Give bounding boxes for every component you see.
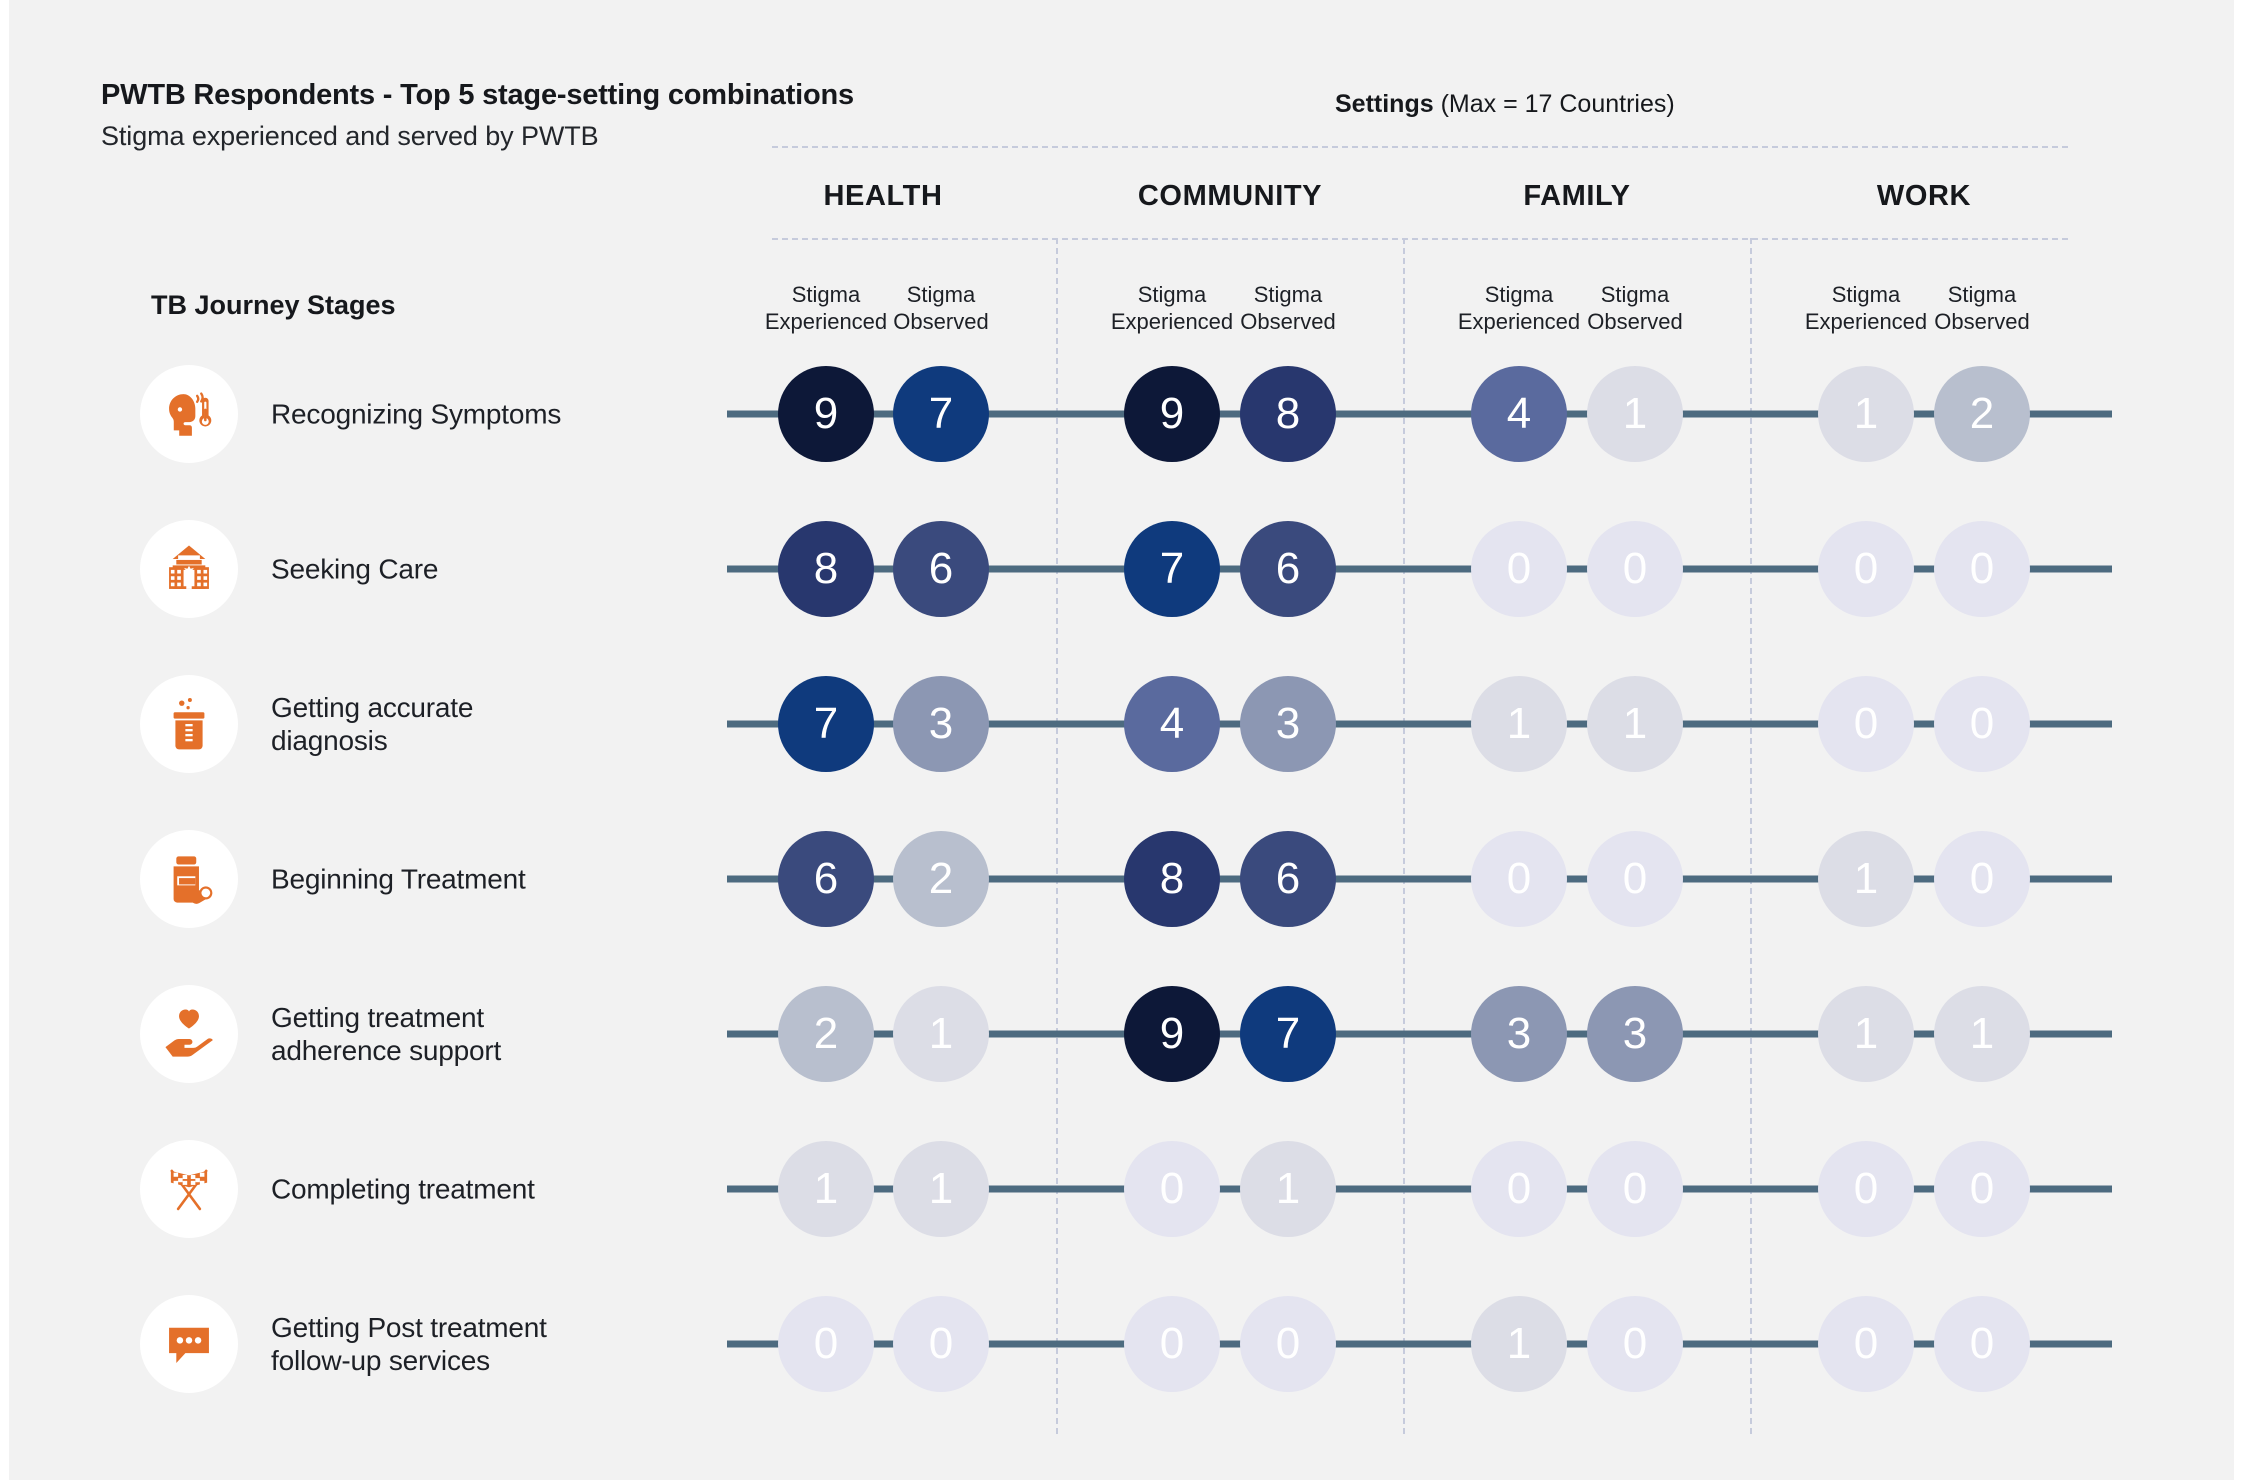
page-subtitle: Stigma experienced and served by PWTB <box>101 119 854 154</box>
value-bubble[interactable]: 1 <box>1471 676 1567 772</box>
value-bubble[interactable]: 0 <box>1240 1296 1336 1392</box>
stage-label: Recognizing Symptoms <box>271 397 571 430</box>
value-bubble[interactable]: 0 <box>1934 676 2030 772</box>
stage-label: Getting Post treatment follow-up service… <box>271 1311 571 1377</box>
hospital-icon <box>140 520 238 618</box>
value-bubble[interactable]: 1 <box>1818 831 1914 927</box>
table-row: Getting Post treatment follow-up service… <box>9 1282 2243 1406</box>
sub-header-stigma-observed-1: StigmaObserved <box>846 282 1036 336</box>
value-bubble[interactable]: 0 <box>1587 1141 1683 1237</box>
value-bubble[interactable]: 1 <box>1240 1141 1336 1237</box>
stage-label: Beginning Treatment <box>271 862 571 895</box>
sub-header-line1: Stigma <box>1193 282 1383 309</box>
value-bubble[interactable]: 6 <box>1240 521 1336 617</box>
group-header-family: FAMILY <box>1397 180 1757 213</box>
value-bubble[interactable]: 7 <box>893 366 989 462</box>
value-bubble[interactable]: 8 <box>778 521 874 617</box>
value-bubble[interactable]: 2 <box>893 831 989 927</box>
value-bubble[interactable]: 0 <box>1587 521 1683 617</box>
value-bubble[interactable]: 6 <box>778 831 874 927</box>
value-bubble[interactable]: 0 <box>1934 1141 2030 1237</box>
table-row: Completing treatment11010000 <box>9 1127 2243 1251</box>
table-row: Beginning Treatment62860010 <box>9 817 2243 941</box>
sub-header-line1: Stigma <box>846 282 1036 309</box>
value-bubble[interactable]: 4 <box>1124 676 1220 772</box>
lab-beaker-icon <box>140 675 238 773</box>
title-block: PWTB Respondents - Top 5 stage-setting c… <box>101 78 854 154</box>
value-bubble[interactable]: 0 <box>1471 1141 1567 1237</box>
stage-label: Getting accurate diagnosis <box>271 691 571 757</box>
value-bubble[interactable]: 3 <box>893 676 989 772</box>
stage-label: Completing treatment <box>271 1172 571 1205</box>
stages-heading: TB Journey Stages <box>151 290 396 321</box>
speech-bubble-icon <box>140 1295 238 1393</box>
value-bubble[interactable]: 0 <box>1471 831 1567 927</box>
value-bubble[interactable]: 1 <box>778 1141 874 1237</box>
value-bubble[interactable]: 0 <box>1934 831 2030 927</box>
value-bubble[interactable]: 6 <box>893 521 989 617</box>
table-row: Seeking Care86760000 <box>9 507 2243 631</box>
value-bubble[interactable]: 0 <box>778 1296 874 1392</box>
value-bubble[interactable]: 4 <box>1471 366 1567 462</box>
group-header-work: WORK <box>1744 180 2104 213</box>
sub-header-line2: Observed <box>1887 309 2077 336</box>
value-bubble[interactable]: 0 <box>1818 521 1914 617</box>
sub-header-stigma-observed-3: StigmaObserved <box>1193 282 1383 336</box>
value-bubble[interactable]: 0 <box>1934 521 2030 617</box>
table-row: Getting accurate diagnosis73431100 <box>9 662 2243 786</box>
value-bubble[interactable]: 8 <box>1124 831 1220 927</box>
value-bubble[interactable]: 0 <box>1818 1141 1914 1237</box>
value-bubble[interactable]: 0 <box>1587 1296 1683 1392</box>
infographic-canvas: PWTB Respondents - Top 5 stage-setting c… <box>0 0 2243 1480</box>
value-bubble[interactable]: 1 <box>1818 986 1914 1082</box>
value-bubble[interactable]: 2 <box>1934 366 2030 462</box>
sub-header-stigma-observed-5: StigmaObserved <box>1540 282 1730 336</box>
header-rule-top <box>772 146 2068 148</box>
value-bubble[interactable]: 7 <box>1124 521 1220 617</box>
heart-in-hand-icon <box>140 985 238 1083</box>
value-bubble[interactable]: 0 <box>1818 1296 1914 1392</box>
header-rule-bottom <box>772 238 2068 240</box>
value-bubble[interactable]: 7 <box>778 676 874 772</box>
value-bubble[interactable]: 9 <box>1124 366 1220 462</box>
sub-header-line1: Stigma <box>1540 282 1730 309</box>
sub-header-line2: Observed <box>1193 309 1383 336</box>
sub-header-line2: Observed <box>1540 309 1730 336</box>
value-bubble[interactable]: 1 <box>1587 676 1683 772</box>
value-bubble[interactable]: 1 <box>1934 986 2030 1082</box>
value-bubble[interactable]: 3 <box>1587 986 1683 1082</box>
value-bubble[interactable]: 0 <box>1124 1296 1220 1392</box>
head-fever-icon <box>140 365 238 463</box>
value-bubble[interactable]: 0 <box>1587 831 1683 927</box>
value-bubble[interactable]: 6 <box>1240 831 1336 927</box>
table-row: Recognizing Symptoms97984112 <box>9 352 2243 476</box>
value-bubble[interactable]: 1 <box>893 1141 989 1237</box>
settings-caption: Settings (Max = 17 Countries) <box>1335 90 1675 119</box>
value-bubble[interactable]: 1 <box>1587 366 1683 462</box>
settings-label: Settings <box>1335 90 1434 118</box>
stage-label: Getting treatment adherence support <box>271 1001 571 1067</box>
value-bubble[interactable]: 8 <box>1240 366 1336 462</box>
value-bubble[interactable]: 0 <box>1471 521 1567 617</box>
value-bubble[interactable]: 9 <box>1124 986 1220 1082</box>
table-row: Getting treatment adherence support21973… <box>9 972 2243 1096</box>
value-bubble[interactable]: 0 <box>893 1296 989 1392</box>
group-header-health: HEALTH <box>703 180 1063 213</box>
value-bubble[interactable]: 1 <box>1818 366 1914 462</box>
group-header-community: COMMUNITY <box>1050 180 1410 213</box>
value-bubble[interactable]: 0 <box>1818 676 1914 772</box>
value-bubble[interactable]: 9 <box>778 366 874 462</box>
value-bubble[interactable]: 2 <box>778 986 874 1082</box>
value-bubble[interactable]: 1 <box>893 986 989 1082</box>
page-title: PWTB Respondents - Top 5 stage-setting c… <box>101 78 854 113</box>
stage-label: Seeking Care <box>271 552 571 585</box>
value-bubble[interactable]: 0 <box>1934 1296 2030 1392</box>
settings-note: (Max = 17 Countries) <box>1441 90 1675 118</box>
sub-header-line1: Stigma <box>1887 282 2077 309</box>
value-bubble[interactable]: 1 <box>1471 1296 1567 1392</box>
value-bubble[interactable]: 3 <box>1240 676 1336 772</box>
pill-bottle-icon <box>140 830 238 928</box>
checkered-flags-icon <box>140 1140 238 1238</box>
sub-header-line2: Observed <box>846 309 1036 336</box>
value-bubble[interactable]: 0 <box>1124 1141 1220 1237</box>
sub-header-stigma-observed-7: StigmaObserved <box>1887 282 2077 336</box>
value-bubble[interactable]: 7 <box>1240 986 1336 1082</box>
value-bubble[interactable]: 3 <box>1471 986 1567 1082</box>
